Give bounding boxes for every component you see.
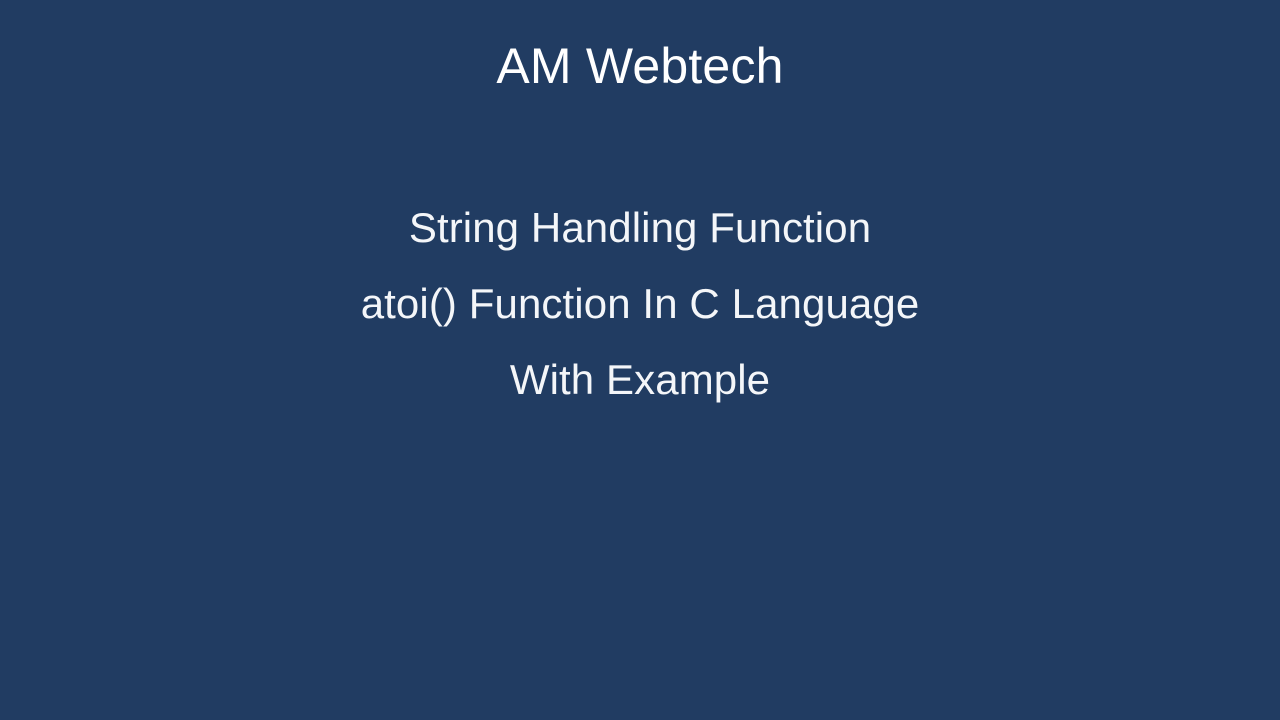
subtitle-line-1: String Handling Function <box>409 190 871 266</box>
channel-title: AM Webtech <box>0 34 1280 98</box>
subtitle-line-2: atoi() Function In C Language <box>361 266 920 342</box>
empty-content-area <box>0 420 1280 720</box>
subtitle-line-3: With Example <box>510 342 770 418</box>
subtitle-block: String Handling Function atoi() Function… <box>0 190 1280 418</box>
title-slide: AM Webtech String Handling Function atoi… <box>0 0 1280 720</box>
